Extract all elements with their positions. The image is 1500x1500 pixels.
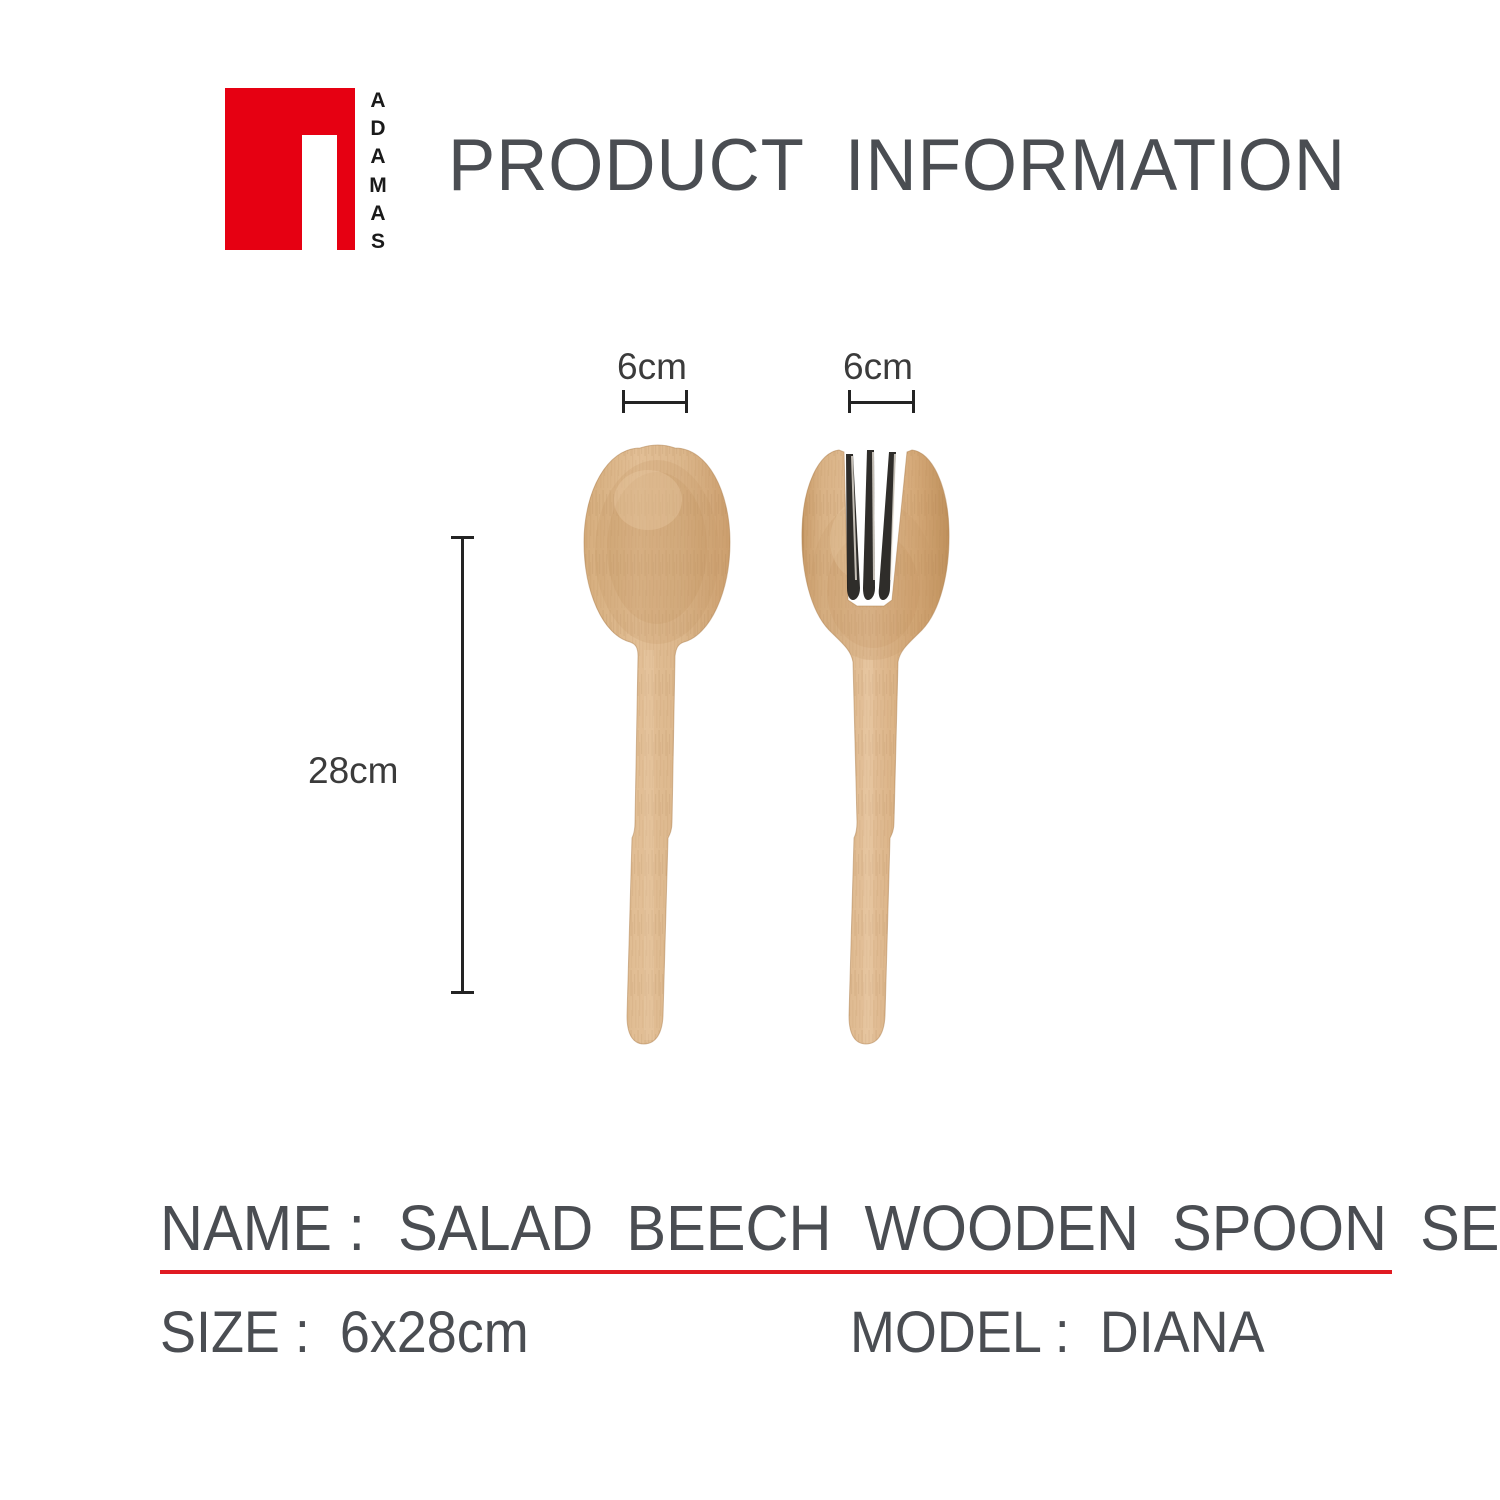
adamas-wordmark: A D A M A S bbox=[361, 90, 395, 252]
length-label: 28cm bbox=[308, 752, 398, 789]
product-illustration bbox=[560, 430, 1000, 1080]
wordmark-letter-0: A bbox=[370, 90, 385, 111]
dimension-tick-right bbox=[912, 390, 915, 413]
fork-width-label: 6cm bbox=[843, 348, 913, 385]
wordmark-letter-5: S bbox=[371, 231, 385, 252]
dimension-bar bbox=[461, 536, 464, 994]
utensil-pair-illustration bbox=[560, 430, 1000, 1080]
spec-model-text: MODEL : DIANA bbox=[850, 1303, 1265, 1364]
wooden-fork-icon bbox=[790, 440, 965, 1060]
spec-details-row: SIZE : 6x28cm MODEL : DIANA bbox=[160, 1303, 1392, 1373]
product-information-sheet: A D A M A S PRODUCT INFORMATION 6cm 6cm … bbox=[0, 0, 1500, 1500]
adamas-logo-mark-icon bbox=[225, 88, 355, 250]
wordmark-letter-2: A bbox=[370, 146, 385, 167]
wordmark-letter-3: M bbox=[369, 175, 387, 196]
spec-size-text: SIZE : 6x28cm bbox=[160, 1303, 529, 1364]
spoon-width-label: 6cm bbox=[617, 348, 687, 385]
brand-logo: A D A M A S bbox=[225, 88, 400, 253]
spec-footer: NAME : SALAD BEECH WOODEN SPOON SET SIZE… bbox=[160, 1195, 1392, 1267]
fork-width-dimension-line bbox=[848, 390, 915, 413]
dimension-bar bbox=[622, 401, 688, 404]
dimension-bar bbox=[848, 401, 915, 404]
spec-name-row: NAME : SALAD BEECH WOODEN SPOON SET bbox=[160, 1195, 1392, 1267]
wordmark-letter-4: A bbox=[370, 203, 385, 224]
dimension-tick-right bbox=[685, 390, 688, 413]
wooden-spoon-icon bbox=[570, 440, 750, 1060]
length-dimension-line bbox=[451, 536, 474, 994]
spec-name-text: NAME : SALAD BEECH WOODEN SPOON SET bbox=[160, 1195, 1500, 1262]
wordmark-letter-1: D bbox=[370, 118, 385, 139]
header: A D A M A S PRODUCT INFORMATION bbox=[0, 0, 1500, 300]
spoon-width-dimension-line bbox=[622, 390, 688, 413]
dimension-tick-bottom bbox=[451, 991, 474, 994]
page-title: PRODUCT INFORMATION bbox=[448, 129, 1346, 202]
spec-divider-rule bbox=[160, 1270, 1392, 1274]
